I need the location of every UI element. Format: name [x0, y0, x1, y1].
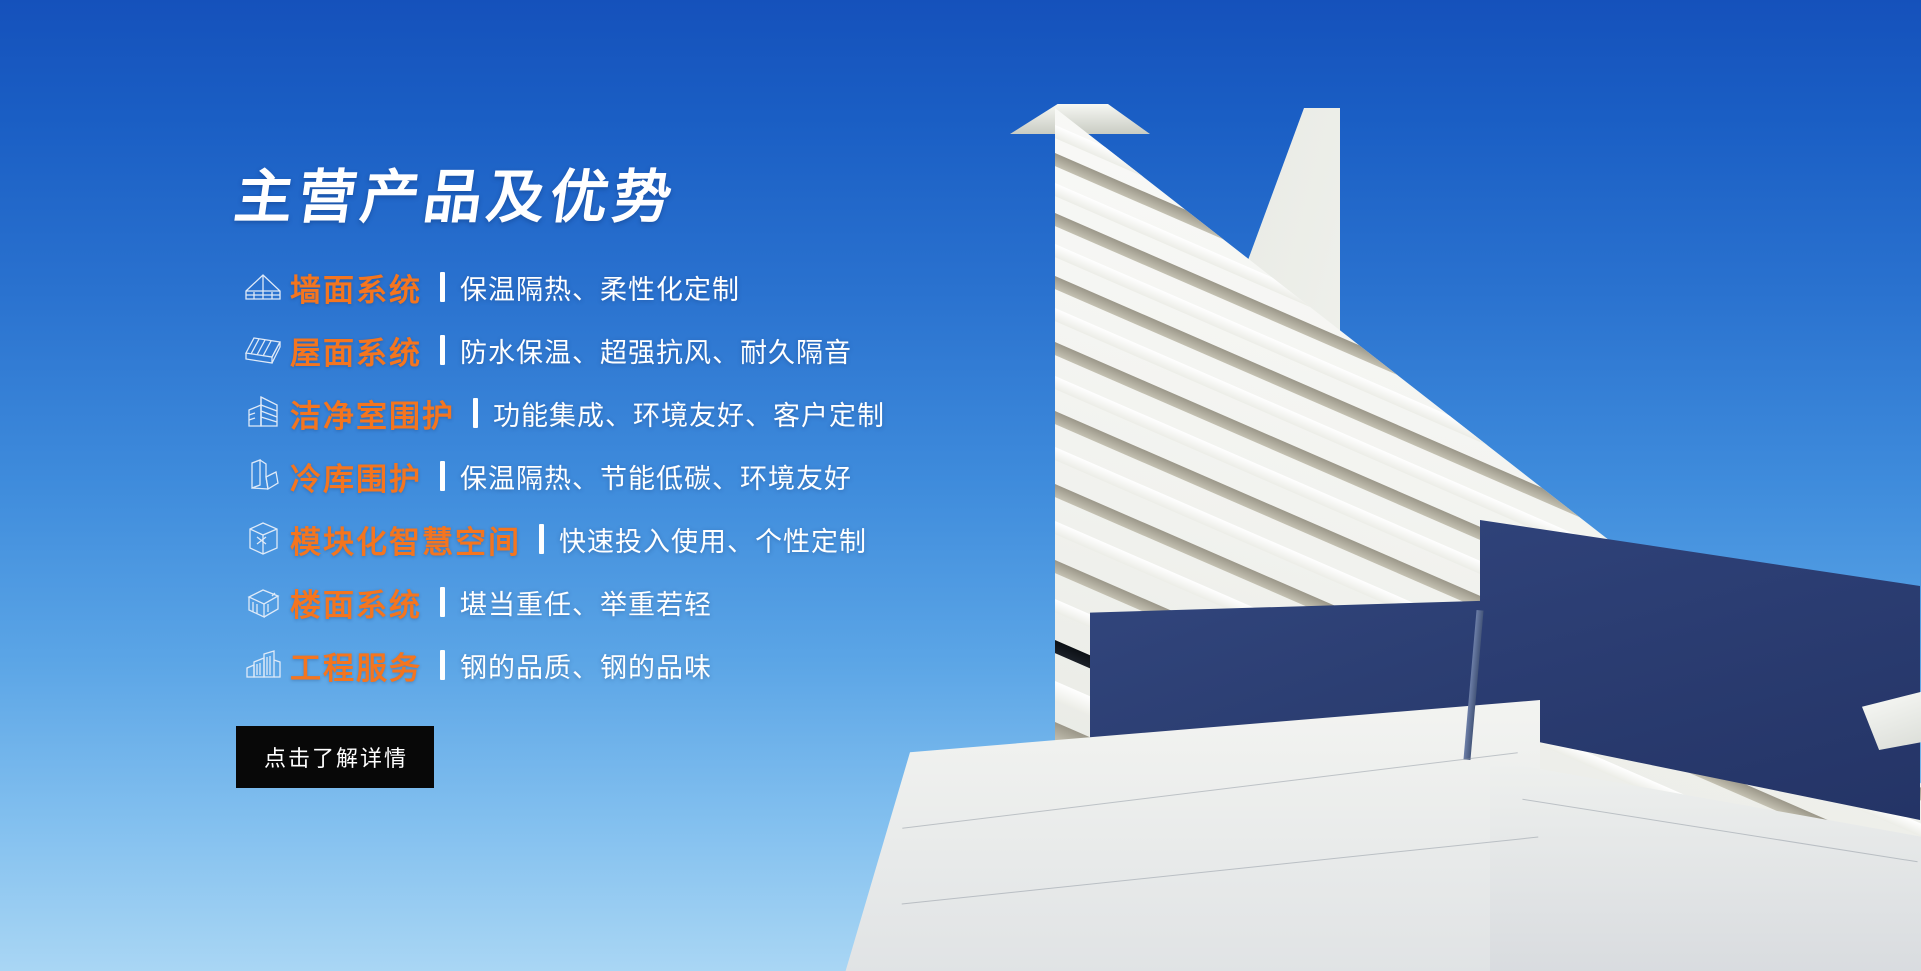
feature-separator [440, 272, 445, 302]
feature-description: 快速投入使用、个性定制 [559, 520, 867, 559]
hero-banner: 主营产品及优势 墙面系统保温隔热、柔性化定制屋面系统防水保温、超强抗风、耐久隔音… [0, 0, 1921, 971]
feature-row-modular-space[interactable]: 模块化智慧空间快速投入使用、个性定制 [236, 512, 1196, 566]
feature-separator [539, 524, 544, 554]
feature-title: 工程服务 [290, 643, 422, 688]
feature-title: 屋面系统 [290, 328, 422, 373]
feature-row-cleanroom-envelope[interactable]: 洁净室围护功能集成、环境友好、客户定制 [236, 386, 1196, 440]
feature-separator [440, 461, 445, 491]
feature-separator [440, 587, 445, 617]
feature-separator [440, 650, 445, 680]
feature-separator [473, 398, 478, 428]
feature-description: 保温隔热、节能低碳、环境友好 [460, 457, 852, 496]
feature-row-roof-system[interactable]: 屋面系统防水保温、超强抗风、耐久隔音 [236, 323, 1196, 377]
page-title: 主营产品及优势 [230, 150, 1202, 234]
engineering-service-icon [236, 648, 290, 682]
feature-description: 堪当重任、举重若轻 [460, 583, 712, 622]
modular-space-icon [236, 520, 290, 558]
feature-title: 模块化智慧空间 [290, 517, 521, 562]
feature-title: 楼面系统 [290, 580, 422, 625]
feature-title: 墙面系统 [290, 265, 422, 310]
feature-row-cold-storage[interactable]: 冷库围护保温隔热、节能低碳、环境友好 [236, 449, 1196, 503]
feature-description: 防水保温、超强抗风、耐久隔音 [460, 331, 852, 370]
feature-description: 钢的品质、钢的品味 [460, 646, 712, 685]
feature-row-floor-system[interactable]: 楼面系统堪当重任、举重若轻 [236, 575, 1196, 629]
learn-more-button[interactable]: 点击了解详情 [236, 726, 434, 788]
feature-title: 冷库围护 [290, 454, 422, 499]
cold-storage-icon [236, 457, 290, 495]
roof-system-icon [236, 333, 290, 367]
cleanroom-envelope-icon [236, 394, 290, 432]
wall-system-icon [236, 269, 290, 305]
hero-content: 主营产品及优势 墙面系统保温隔热、柔性化定制屋面系统防水保温、超强抗风、耐久隔音… [236, 150, 1196, 788]
feature-separator [440, 335, 445, 365]
feature-description: 功能集成、环境友好、客户定制 [493, 394, 885, 433]
feature-row-engineering-service[interactable]: 工程服务钢的品质、钢的品味 [236, 638, 1196, 692]
feature-list: 墙面系统保温隔热、柔性化定制屋面系统防水保温、超强抗风、耐久隔音洁净室围护功能集… [236, 260, 1196, 692]
floor-system-icon [236, 584, 290, 620]
feature-row-wall-system[interactable]: 墙面系统保温隔热、柔性化定制 [236, 260, 1196, 314]
feature-description: 保温隔热、柔性化定制 [460, 268, 740, 307]
feature-title: 洁净室围护 [290, 391, 455, 436]
